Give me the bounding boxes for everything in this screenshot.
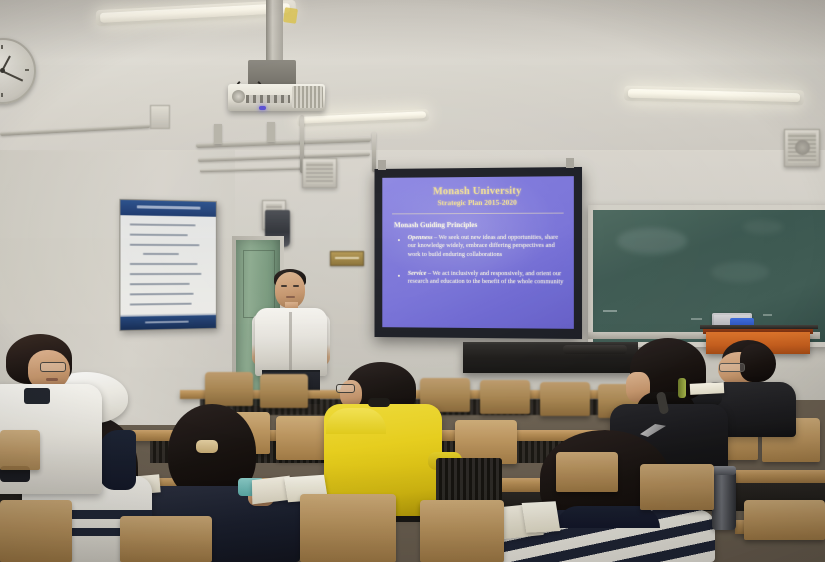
student-cap-shoulder-dark (100, 430, 136, 490)
slide-bullet-1: Openness – We seek out new ideas and opp… (408, 234, 568, 259)
student-yellow-shoulder (326, 408, 386, 434)
screen-drop-pipe (372, 132, 376, 172)
chair-front-5 (744, 500, 825, 540)
woman-glasses-icon (719, 363, 745, 372)
notice-board-header (120, 200, 216, 217)
paper-sheet-right (690, 382, 725, 395)
ceiling-tape-marker (283, 7, 298, 24)
chair-front-7 (556, 452, 618, 492)
student-yellow-glasses-icon (336, 384, 355, 393)
presenter-shirt-placket (289, 312, 292, 374)
pipe-bracket-1 (214, 124, 222, 144)
slide-bullet-marker-2 (398, 275, 400, 277)
chair-front-6 (640, 464, 714, 510)
slide-heading: Monash Guiding Principles (394, 221, 477, 229)
slide-bullet-2: Service – We act inclusively and respons… (408, 270, 568, 287)
slide-bullet-2-term: Service (408, 270, 427, 277)
chair-front-1 (0, 500, 72, 562)
chair-left-side (0, 430, 40, 470)
chair-back-4 (480, 380, 530, 414)
woman-glasses-hair-back (740, 344, 776, 382)
chair-front-4 (420, 500, 504, 562)
hair-clip (196, 440, 218, 453)
slide-divider (392, 213, 564, 215)
desk-object (563, 345, 627, 354)
slide-bullet-marker-1 (398, 239, 400, 241)
open-book-2-right-page (522, 501, 561, 533)
projector-ports (246, 95, 290, 103)
slide-title: Monash University (382, 185, 574, 197)
wall-speaker-left (302, 158, 337, 188)
projection-screen: Monash University Strategic Plan 2015-20… (374, 167, 582, 339)
chair-front-3 (300, 494, 396, 562)
notice-board-footer (120, 315, 216, 330)
projector-power-led (259, 106, 266, 110)
wall-plaque (330, 251, 364, 266)
projector-vent (292, 86, 323, 108)
green-bottle (678, 378, 686, 398)
classroom-photograph: Monash University Strategic Plan 2015-20… (0, 0, 825, 562)
slide-subtitle: Strategic Plan 2015-2020 (382, 197, 574, 207)
side-table-rail (700, 325, 818, 329)
thermos-lid (712, 466, 736, 475)
chair-back-5 (540, 382, 590, 416)
wall-speaker-right (784, 129, 820, 167)
pipe-bracket-2 (267, 122, 275, 142)
slide-bullet-1-term: Openness (408, 234, 433, 241)
student-left-mouth (46, 378, 58, 381)
screen-bracket-right (566, 158, 574, 168)
chair-back-1 (205, 372, 253, 406)
thermos-bottle (712, 470, 736, 530)
wall-notice-board (119, 199, 216, 331)
projector-lens (232, 90, 245, 103)
student-yellow-collar (368, 398, 390, 407)
chair-front-2 (120, 516, 212, 562)
student-left-collar (24, 388, 50, 404)
slide-surface: Monash University Strategic Plan 2015-20… (382, 176, 574, 329)
wall-switch-box (150, 105, 170, 129)
student-left-glasses-icon (40, 362, 66, 372)
chair-back-2 (260, 374, 308, 408)
screen-bracket-left (378, 160, 386, 170)
